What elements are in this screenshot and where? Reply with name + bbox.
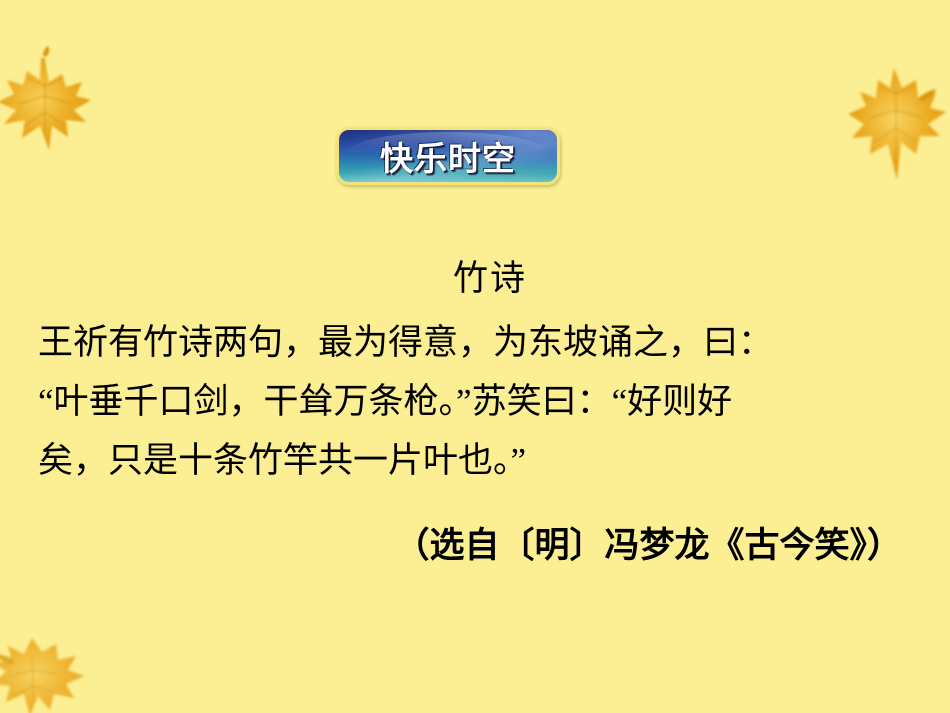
maple-leaf-icon [0, 632, 96, 713]
poem-title: 竹诗 [0, 250, 950, 301]
poem-body-line: 王祈有竹诗两句，最为得意，为东坡诵之，曰： [38, 313, 918, 372]
title-banner: 快乐时空 [336, 127, 560, 185]
maple-leaf-icon [846, 54, 950, 192]
attribution-text: （选自〔明〕冯梦龙《古今笑》） [0, 517, 950, 568]
poem-body-line: 矣，只是十条竹竿共一片叶也。” [38, 431, 918, 490]
poem-body: 王祈有竹诗两句，最为得意，为东坡诵之，曰： “叶垂千口剑，干耸万条枪。”苏笑曰：… [38, 313, 918, 490]
title-banner-plate: 快乐时空 [336, 127, 560, 185]
poem-body-line: “叶垂千口剑，干耸万条枪。”苏笑曰：“好则好 [38, 372, 918, 431]
title-banner-label: 快乐时空 [339, 132, 557, 180]
maple-leaf-icon [0, 38, 104, 168]
slide-canvas: 快乐时空 竹诗 王祈有竹诗两句，最为得意，为东坡诵之，曰： “叶垂千口剑，干耸万… [0, 0, 950, 713]
